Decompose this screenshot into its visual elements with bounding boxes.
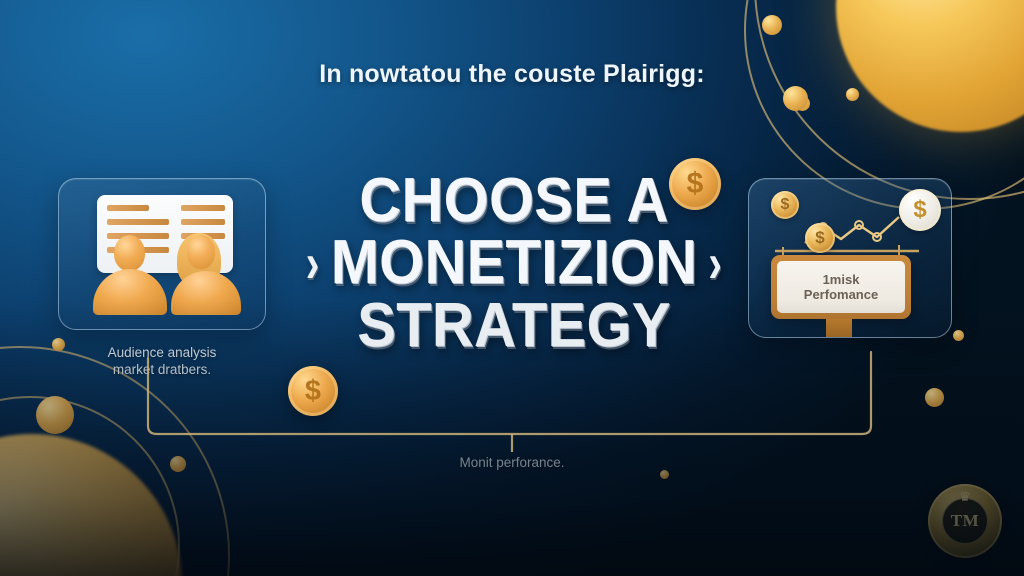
- dollar-coin-icon: $: [805, 223, 835, 253]
- gold-dot: [846, 88, 859, 101]
- chevron-right-icon-left: ›: [305, 235, 319, 291]
- headline-line-2-row: › MONETIZION ›: [276, 234, 752, 292]
- headline-line-3: STRATEGY: [276, 297, 752, 355]
- monitor-line-2: Perfomance: [804, 287, 878, 302]
- dollar-coin-icon: $: [288, 366, 338, 416]
- gold-dot: [660, 470, 669, 479]
- audience-analysis-card[interactable]: [58, 178, 266, 330]
- chevron-right-icon-right: ›: [708, 235, 722, 291]
- emblem-text: TM: [942, 498, 988, 544]
- gold-dot: [762, 15, 782, 35]
- performance-monitor-card[interactable]: $ $ $ 1misk Perfomance: [748, 178, 952, 338]
- dollar-coin-icon: $: [899, 189, 941, 231]
- crown-icon: ♛: [959, 490, 971, 503]
- monitor-line-1: 1misk: [823, 272, 860, 287]
- headline-line-2: MONETIZION: [331, 234, 698, 292]
- monitor-screen: 1misk Perfomance: [771, 255, 911, 319]
- slide-kicker: In nowtatou the couste Plairigg:: [0, 60, 1024, 89]
- tm-emblem-logo: ♛ TM: [928, 484, 1002, 558]
- gold-dot: [783, 86, 808, 111]
- dollar-coin-icon: $: [771, 191, 799, 219]
- dollar-coin-icon: $: [669, 158, 721, 210]
- slide-canvas: In nowtatou the couste Plairigg: CHOOSE …: [0, 0, 1024, 576]
